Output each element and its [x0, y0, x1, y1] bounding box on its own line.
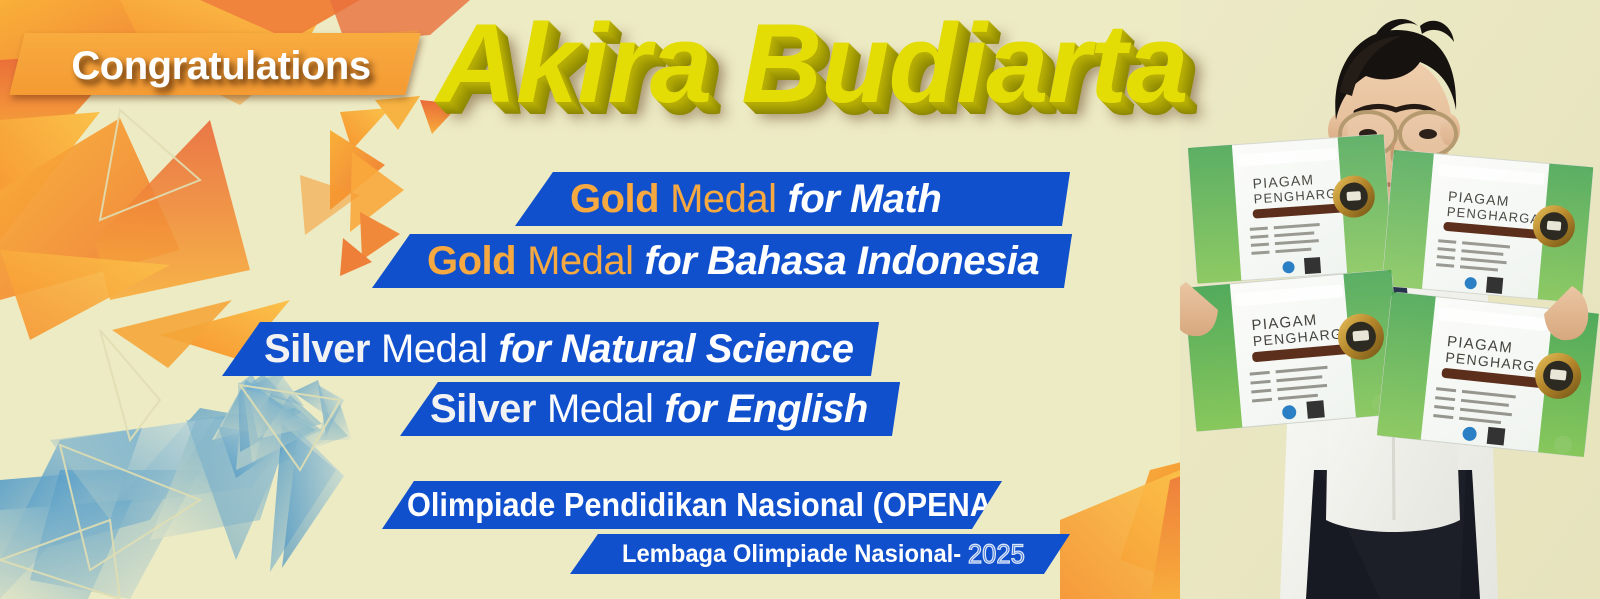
- student-photo: PIAGAM PENGHARGAAN: [1180, 0, 1600, 599]
- award-text-silver-natural-science: Silver Medal for Natural Science: [264, 322, 854, 376]
- institution-line: Lembaga Olimpiade Nasional- 2025: [622, 534, 1025, 574]
- award-rank: Silver: [264, 327, 370, 372]
- award-medal: Medal: [381, 327, 487, 372]
- congratulations-banner: PIAGAM PENGHARGAAN: [0, 0, 1600, 599]
- honoree-name: Akira Budiarta: [436, 8, 1188, 120]
- award-ribbon-gold-math: Gold Medal for Math: [515, 172, 1070, 226]
- institution-ribbon: Lembaga Olimpiade Nasional- 2025: [570, 534, 1070, 574]
- award-rank: Gold: [427, 239, 516, 284]
- award-rank: Gold: [570, 177, 659, 222]
- institution-name: Lembaga Olimpiade Nasional-: [622, 540, 961, 569]
- award-ribbon-silver-natural-science: Silver Medal for Natural Science: [222, 322, 879, 376]
- award-rank: Silver: [430, 387, 536, 432]
- award-text-gold-bahasa-indonesia: Gold Medal for Bahasa Indonesia: [427, 234, 1039, 288]
- award-subject: for Bahasa Indonesia: [645, 239, 1040, 284]
- event-ribbon: Olimpiade Pendidikan Nasional (OPENAS): [382, 481, 1002, 529]
- award-text-gold-math: Gold Medal for Math: [570, 172, 941, 226]
- award-ribbon-gold-bahasa-indonesia: Gold Medal for Bahasa Indonesia: [372, 234, 1072, 288]
- award-medal: Medal: [547, 387, 653, 432]
- award-subject: for Math: [788, 177, 942, 222]
- award-medal: Medal: [527, 239, 633, 284]
- award-ribbon-silver-english: Silver Medal for English: [400, 382, 900, 436]
- congratulations-label: Congratulations: [46, 40, 396, 92]
- event-year: 2025: [968, 539, 1025, 570]
- award-medal: Medal: [670, 177, 776, 222]
- award-subject: for English: [664, 387, 867, 432]
- event-name: Olimpiade Pendidikan Nasional (OPENAS): [407, 481, 1023, 529]
- award-text-silver-english: Silver Medal for English: [430, 382, 868, 436]
- award-subject: for Natural Science: [498, 327, 853, 372]
